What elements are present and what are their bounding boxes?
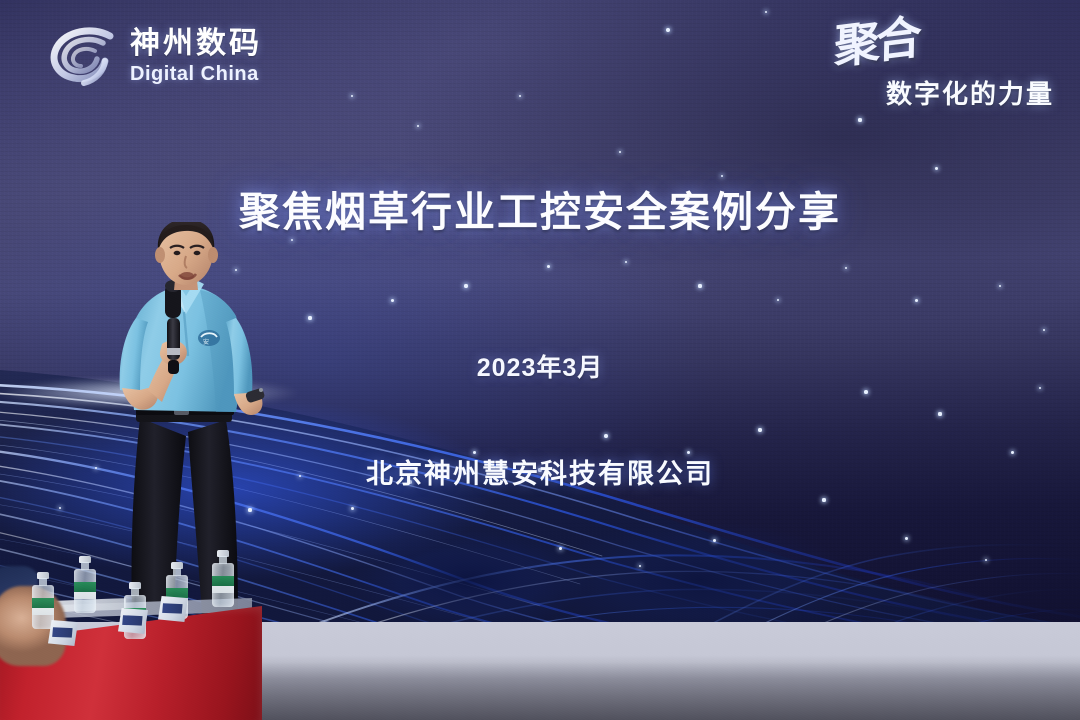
brand-name-cn: 神州数码 bbox=[130, 29, 262, 59]
particle-dot bbox=[765, 11, 768, 14]
particle-dot bbox=[619, 151, 622, 154]
name-card-strip bbox=[162, 603, 182, 613]
company-chest-logo-icon: 安 bbox=[198, 330, 220, 346]
particle-dot bbox=[291, 239, 294, 242]
particle-dot bbox=[935, 167, 938, 170]
particle-dot bbox=[666, 28, 670, 32]
particle-dot bbox=[519, 95, 522, 98]
svg-text:安: 安 bbox=[203, 338, 209, 346]
bottle-label bbox=[212, 576, 234, 593]
brand-text-block: 神州数码 Digital China bbox=[130, 29, 262, 84]
name-card-strip bbox=[52, 627, 72, 637]
particle-dot bbox=[915, 299, 918, 302]
name-card-icon bbox=[48, 620, 78, 646]
bottle-label bbox=[74, 582, 96, 599]
particle-dot bbox=[999, 285, 1002, 288]
particle-dot bbox=[698, 284, 701, 287]
digital-china-swirl-icon bbox=[48, 23, 120, 89]
brand-logo-digital-china: 神州数码 Digital China bbox=[48, 18, 298, 94]
particle-dot bbox=[351, 95, 353, 97]
particle-dot bbox=[464, 284, 467, 287]
particle-dot bbox=[858, 118, 861, 121]
name-card-strip bbox=[122, 615, 142, 625]
particle-dot bbox=[845, 267, 848, 270]
event-calligraphy: 聚合 bbox=[834, 17, 918, 69]
particle-dot bbox=[547, 265, 550, 268]
particle-dot bbox=[308, 316, 311, 319]
particle-dot bbox=[417, 125, 420, 128]
conference-stage-photo: 神州数码 Digital China 聚合 数字化的力量 聚焦烟草行业工控安全案… bbox=[0, 0, 1080, 720]
particle-dot bbox=[625, 261, 628, 264]
particle-dot bbox=[721, 175, 724, 178]
event-tagline: 数字化的力量 bbox=[886, 74, 1054, 111]
bottle-label bbox=[32, 598, 54, 615]
particle-dot bbox=[777, 299, 780, 302]
name-card-icon bbox=[158, 596, 188, 622]
brand-name-en: Digital China bbox=[130, 64, 262, 84]
event-logo-jvhe: 聚合 数字化的力量 bbox=[796, 12, 1058, 110]
particle-dot bbox=[391, 299, 394, 302]
name-card-icon bbox=[118, 608, 148, 634]
